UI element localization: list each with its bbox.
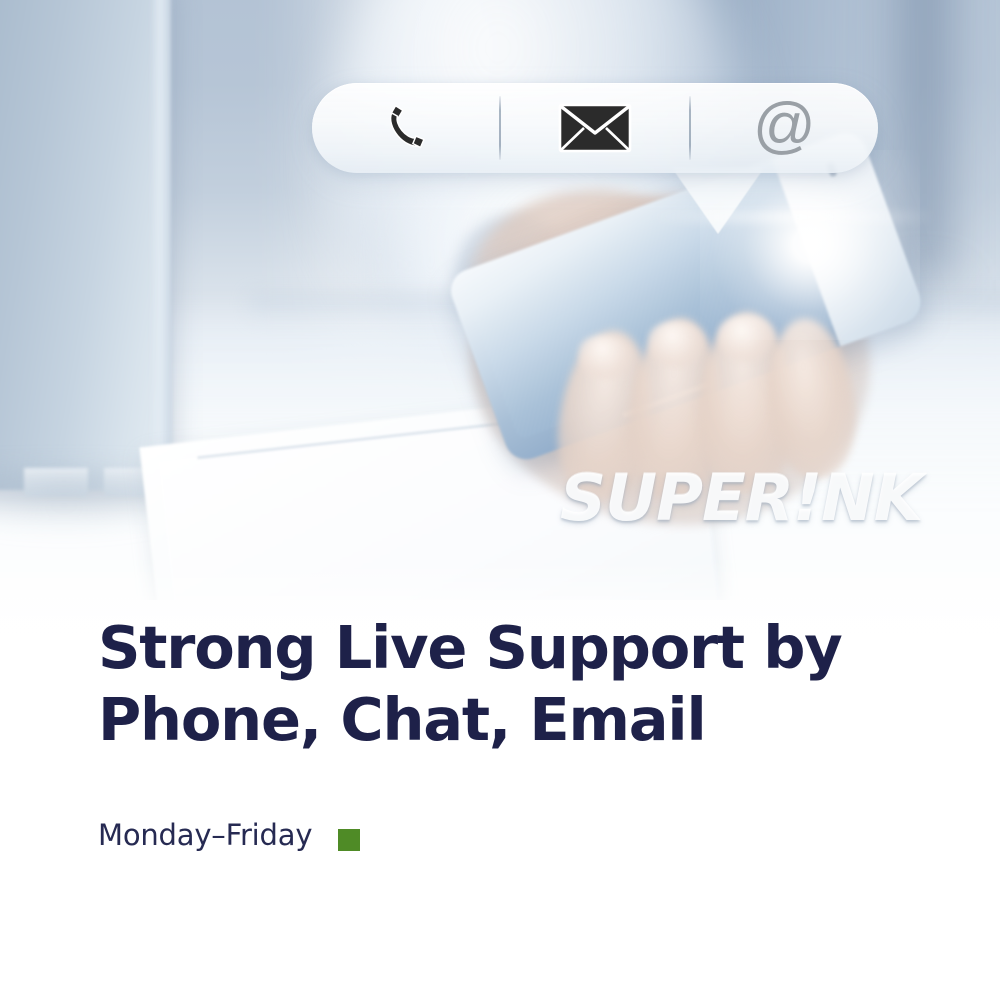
contact-bar[interactable]: @	[312, 83, 878, 173]
subtitle-row: Monday–Friday	[98, 818, 360, 852]
availability-text: Monday–Friday	[98, 818, 312, 852]
brand-watermark: SUPER!NK	[560, 462, 922, 536]
laptop-edge-highlight	[150, 0, 172, 470]
phone-icon	[377, 99, 435, 157]
laptop-back	[0, 0, 170, 490]
support-banner: @ SUPER!NK Strong Live Support by Phone,…	[0, 0, 1000, 1000]
envelope-icon	[558, 101, 632, 155]
contact-bar-item-phone[interactable]	[312, 83, 499, 173]
hero-photo: @ SUPER!NK	[0, 0, 1000, 600]
headline-line-2: Phone, Chat, Email	[98, 684, 898, 756]
headline-line-1: Strong Live Support by	[98, 613, 842, 682]
contact-bar-item-at[interactable]: @	[691, 83, 878, 173]
contact-bar-item-email[interactable]	[501, 83, 688, 173]
at-icon: @	[753, 95, 816, 157]
green-accent-square	[338, 829, 360, 851]
page-title: Strong Live Support by Phone, Chat, Emai…	[98, 612, 898, 756]
